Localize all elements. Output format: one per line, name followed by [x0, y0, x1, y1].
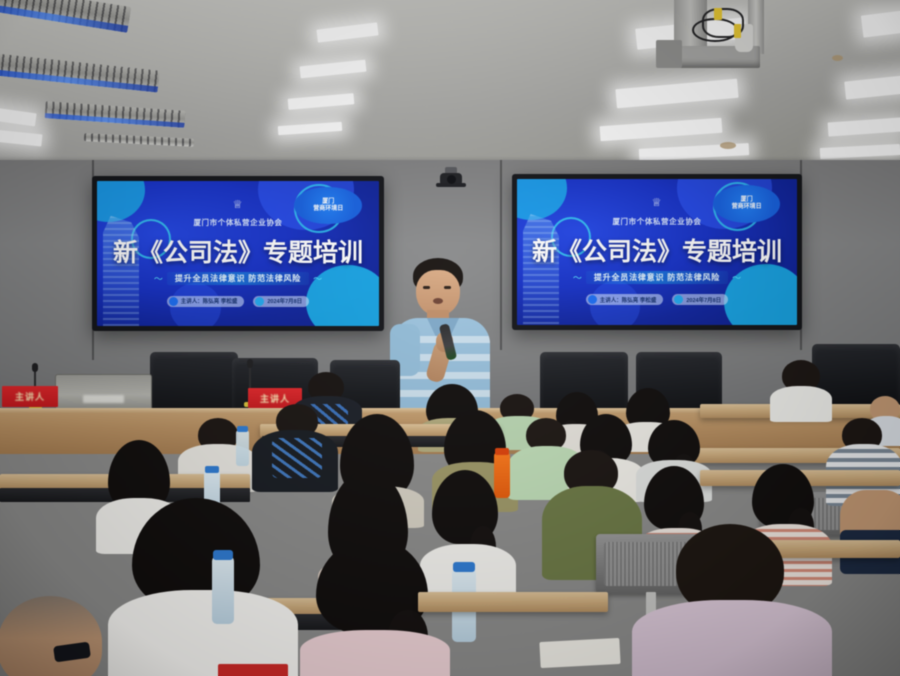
ceiling-light-3 [316, 22, 378, 42]
water-bottle-cap-rowB-1 [237, 426, 248, 432]
wall-camera-icon [436, 167, 466, 193]
screen-pill-speaker-left: 主讲人：陈弘亮 李松盛 [167, 296, 245, 307]
presenter-mouth [433, 298, 443, 304]
ceiling-light-14 [820, 144, 900, 159]
screen-subtitle-right-wrap: 〜 提升全员法律意识 防范法律风险 〜 [517, 271, 797, 284]
ceiling-light-12 [844, 74, 900, 99]
screen-pill-date-left-text: 2024年7月8日 [267, 297, 302, 305]
orange-bottle-cap [495, 448, 509, 455]
ceiling-light-4 [300, 60, 367, 79]
water-bottle-cap-rowC-1 [205, 466, 219, 473]
tick-left-icon: 〜 [154, 272, 163, 285]
ceiling-projector-icon [640, 0, 790, 72]
name-placard-right-text: 主讲人 [260, 392, 290, 405]
water-bottle-cap-rowD-2 [453, 562, 475, 572]
name-placard-left: 主讲人 [2, 386, 58, 407]
screen-subtitle-left: 提升全员法律意识 防范法律风险 [167, 272, 309, 285]
display-screen-left[interactable]: 厦门 营商环境日 ♕ 厦门市个体私营企业协会 新《公司法》专题培训 〜 提升全员… [92, 176, 384, 331]
tick-right-icon-right: 〜 [732, 271, 741, 284]
screen-title-right: 新《公司法》专题培训 [517, 232, 797, 268]
screen-pill-speaker-left-text: 主讲人：陈弘亮 李松盛 [181, 297, 238, 305]
exec-chair-left [150, 352, 238, 414]
attendee-D4 [632, 524, 832, 676]
display-screen-right[interactable]: 厦门 营商环境日 ♕ 厦门市个体私营企业协会 新《公司法》专题培训 〜 提升全员… [512, 174, 802, 330]
screen-subtitle-right: 提升全员法律意识 防范法律风险 [586, 271, 728, 284]
ceiling [0, 0, 900, 172]
ceiling-vent-1 [0, 0, 131, 33]
tick-right-icon: 〜 [313, 272, 322, 285]
smoke-detector-icon-2 [832, 55, 843, 61]
crown-icon: ♕ [97, 200, 379, 211]
screen-pill-date-left: 2024年7月8日 [253, 296, 309, 307]
screen-title-left: 新《公司法》专题培训 [97, 233, 379, 269]
ceiling-light-2 [0, 130, 42, 147]
attendee-A1 [770, 360, 832, 418]
screen-pills-right: 主讲人：陈弘亮 李松盛 2024年7月8日 [517, 294, 797, 305]
laptop-icon [55, 374, 152, 412]
screen-organization-left: 厦门市个体私营企业协会 [97, 217, 379, 228]
water-bottle-rowD-1 [212, 556, 234, 624]
ceiling-vent-3 [45, 101, 186, 128]
screen-subtitle-left-wrap: 〜 提升全员法律意识 防范法律风险 〜 [97, 272, 379, 285]
scene-caption: Conference room legal training session p… [0, 658, 900, 676]
ceiling-vent-2 [0, 53, 160, 92]
calendar-icon [255, 297, 264, 306]
ceiling-light-11 [861, 8, 900, 37]
speaker-icon-right [588, 295, 597, 304]
screen-pill-speaker-right-text: 主讲人：陈弘亮 李松盛 [600, 296, 657, 304]
ceiling-vent-4 [84, 133, 194, 147]
ceiling-light-9 [600, 118, 723, 141]
ceiling-light-6 [278, 122, 342, 135]
tick-left-icon-right: 〜 [573, 271, 582, 284]
screen-pills-left: 主讲人：陈弘亮 李松盛 2024年7月8日 [97, 296, 379, 307]
screen-organization-right: 厦门市个体私营企业协会 [517, 216, 797, 227]
attendee-B2-shirt-print [272, 438, 322, 478]
attendee-D2 [108, 498, 298, 676]
presenter-eye-right [444, 286, 451, 289]
screen-pill-date-right-text: 2024年7月8日 [686, 296, 721, 304]
presenter-eye-left [423, 286, 430, 289]
calendar-icon-right [674, 295, 683, 304]
water-bottle-rowB-1 [236, 430, 249, 466]
crown-icon-right: ♕ [517, 198, 797, 209]
wall-seam-mid [500, 160, 502, 350]
ceiling-light-5 [288, 93, 355, 110]
attendee-C7 [840, 490, 900, 580]
bench-desk-rowD-mid [418, 592, 608, 612]
screen-pill-date-right: 2024年7月8日 [672, 294, 728, 305]
speaker-icon [169, 297, 178, 306]
ceiling-light-8 [615, 79, 738, 109]
screen-pill-speaker-right: 主讲人：陈弘亮 李松盛 [586, 294, 664, 305]
ceiling-light-1 [0, 107, 37, 127]
smoke-detector-icon [720, 142, 736, 149]
name-placard-left-text: 主讲人 [15, 390, 45, 403]
ceiling-light-13 [828, 117, 900, 136]
conference-room-photo: 厦门 营商环境日 ♕ 厦门市个体私营企业协会 新《公司法》专题培训 〜 提升全员… [0, 0, 900, 676]
water-bottle-cap-rowD-1 [213, 550, 233, 560]
